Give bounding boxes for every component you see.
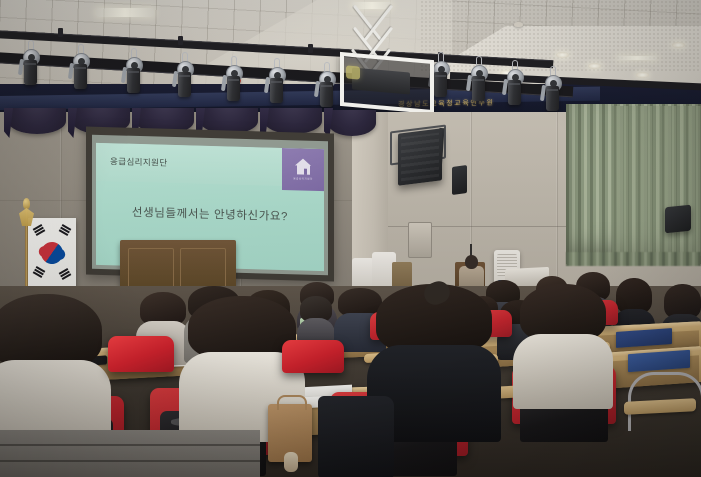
trigram-gam (33, 266, 46, 278)
strip-light (96, 8, 154, 17)
valance-swag (264, 108, 322, 134)
house-icon (295, 158, 312, 174)
podium-panel (180, 248, 226, 290)
attendee (520, 284, 606, 404)
truss-clamp (178, 36, 183, 45)
curtain-hem (566, 252, 701, 266)
line-array-speaker (398, 128, 442, 185)
presenter-head (465, 255, 478, 269)
subwoofer-speaker (452, 165, 467, 195)
audience-chair (108, 336, 174, 384)
downlight (672, 42, 685, 48)
projector-lens (346, 65, 360, 79)
flag-finial (23, 198, 30, 209)
stage-spotlight (432, 52, 449, 98)
korean-national-flag (28, 218, 76, 290)
trigram-gon (59, 268, 72, 280)
truss-clamp (308, 44, 313, 53)
smoke-detector-icon (514, 22, 523, 27)
stage-spotlight (225, 56, 242, 102)
taeguk-symbol (37, 238, 68, 269)
trigram-geon (33, 224, 46, 236)
stage-spotlight (318, 62, 335, 108)
trigram-ri (59, 224, 72, 236)
stage-spotlight (544, 66, 561, 112)
wall-mounted-speaker (665, 205, 691, 234)
attendee (0, 294, 102, 444)
stage-spotlight (470, 56, 487, 102)
strip-light (617, 56, 657, 60)
stage-spotlight (176, 52, 193, 98)
podium-panel (128, 248, 174, 290)
downlight (556, 52, 569, 58)
stage-spotlight (22, 40, 39, 86)
attendee (300, 296, 332, 340)
bag-charm (284, 452, 298, 472)
slide-logo-caption: 응급심리지원단 (293, 176, 313, 181)
lecture-hall-photo: 경상남도교육청교육연수원 (0, 0, 701, 477)
draped-coat (318, 396, 394, 477)
window-curtain-overlay (612, 106, 701, 256)
stage-spotlight (125, 48, 142, 94)
slide-org-title: 응급심리지원단 (110, 155, 168, 169)
truss-clamp (58, 28, 63, 37)
downlight (588, 63, 601, 69)
stage-spotlight (506, 60, 523, 106)
valance-swag (8, 108, 66, 134)
slide-headline: 선생님들께서는 안녕하신가요? (96, 203, 324, 225)
floor-steps (0, 430, 260, 477)
downlight (636, 72, 649, 78)
wall-access-panel (408, 222, 432, 258)
stage-spotlight (72, 44, 89, 90)
audience-chair (282, 340, 344, 384)
valance-swag (328, 110, 376, 136)
slide-logo: 응급심리지원단 (282, 148, 324, 191)
stage-spotlight (268, 58, 285, 104)
